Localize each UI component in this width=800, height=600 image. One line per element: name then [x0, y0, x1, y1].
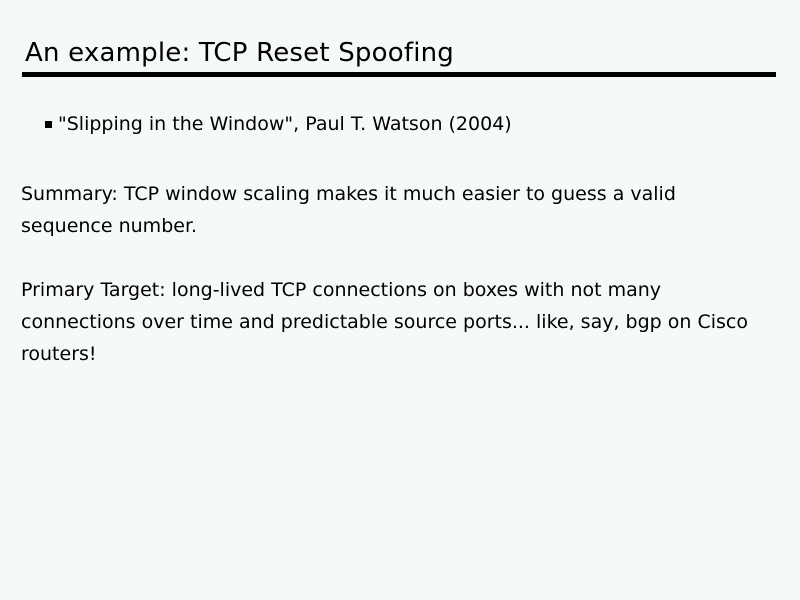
list-item: "Slipping in the Window", Paul T. Watson… [45, 110, 765, 138]
presentation-slide: An example: TCP Reset Spoofing "Slipping… [0, 0, 800, 600]
title-underline-rule [22, 72, 776, 77]
summary-paragraph: Summary: TCP window scaling makes it muc… [21, 178, 711, 242]
square-bullet-icon [45, 121, 52, 128]
page-title: An example: TCP Reset Spoofing [25, 37, 454, 69]
bullet-list: "Slipping in the Window", Paul T. Watson… [45, 110, 765, 138]
list-item-label: "Slipping in the Window", Paul T. Watson… [58, 110, 765, 138]
primary-target-paragraph: Primary Target: long-lived TCP connectio… [21, 274, 769, 370]
body-content: Summary: TCP window scaling makes it muc… [21, 178, 769, 370]
